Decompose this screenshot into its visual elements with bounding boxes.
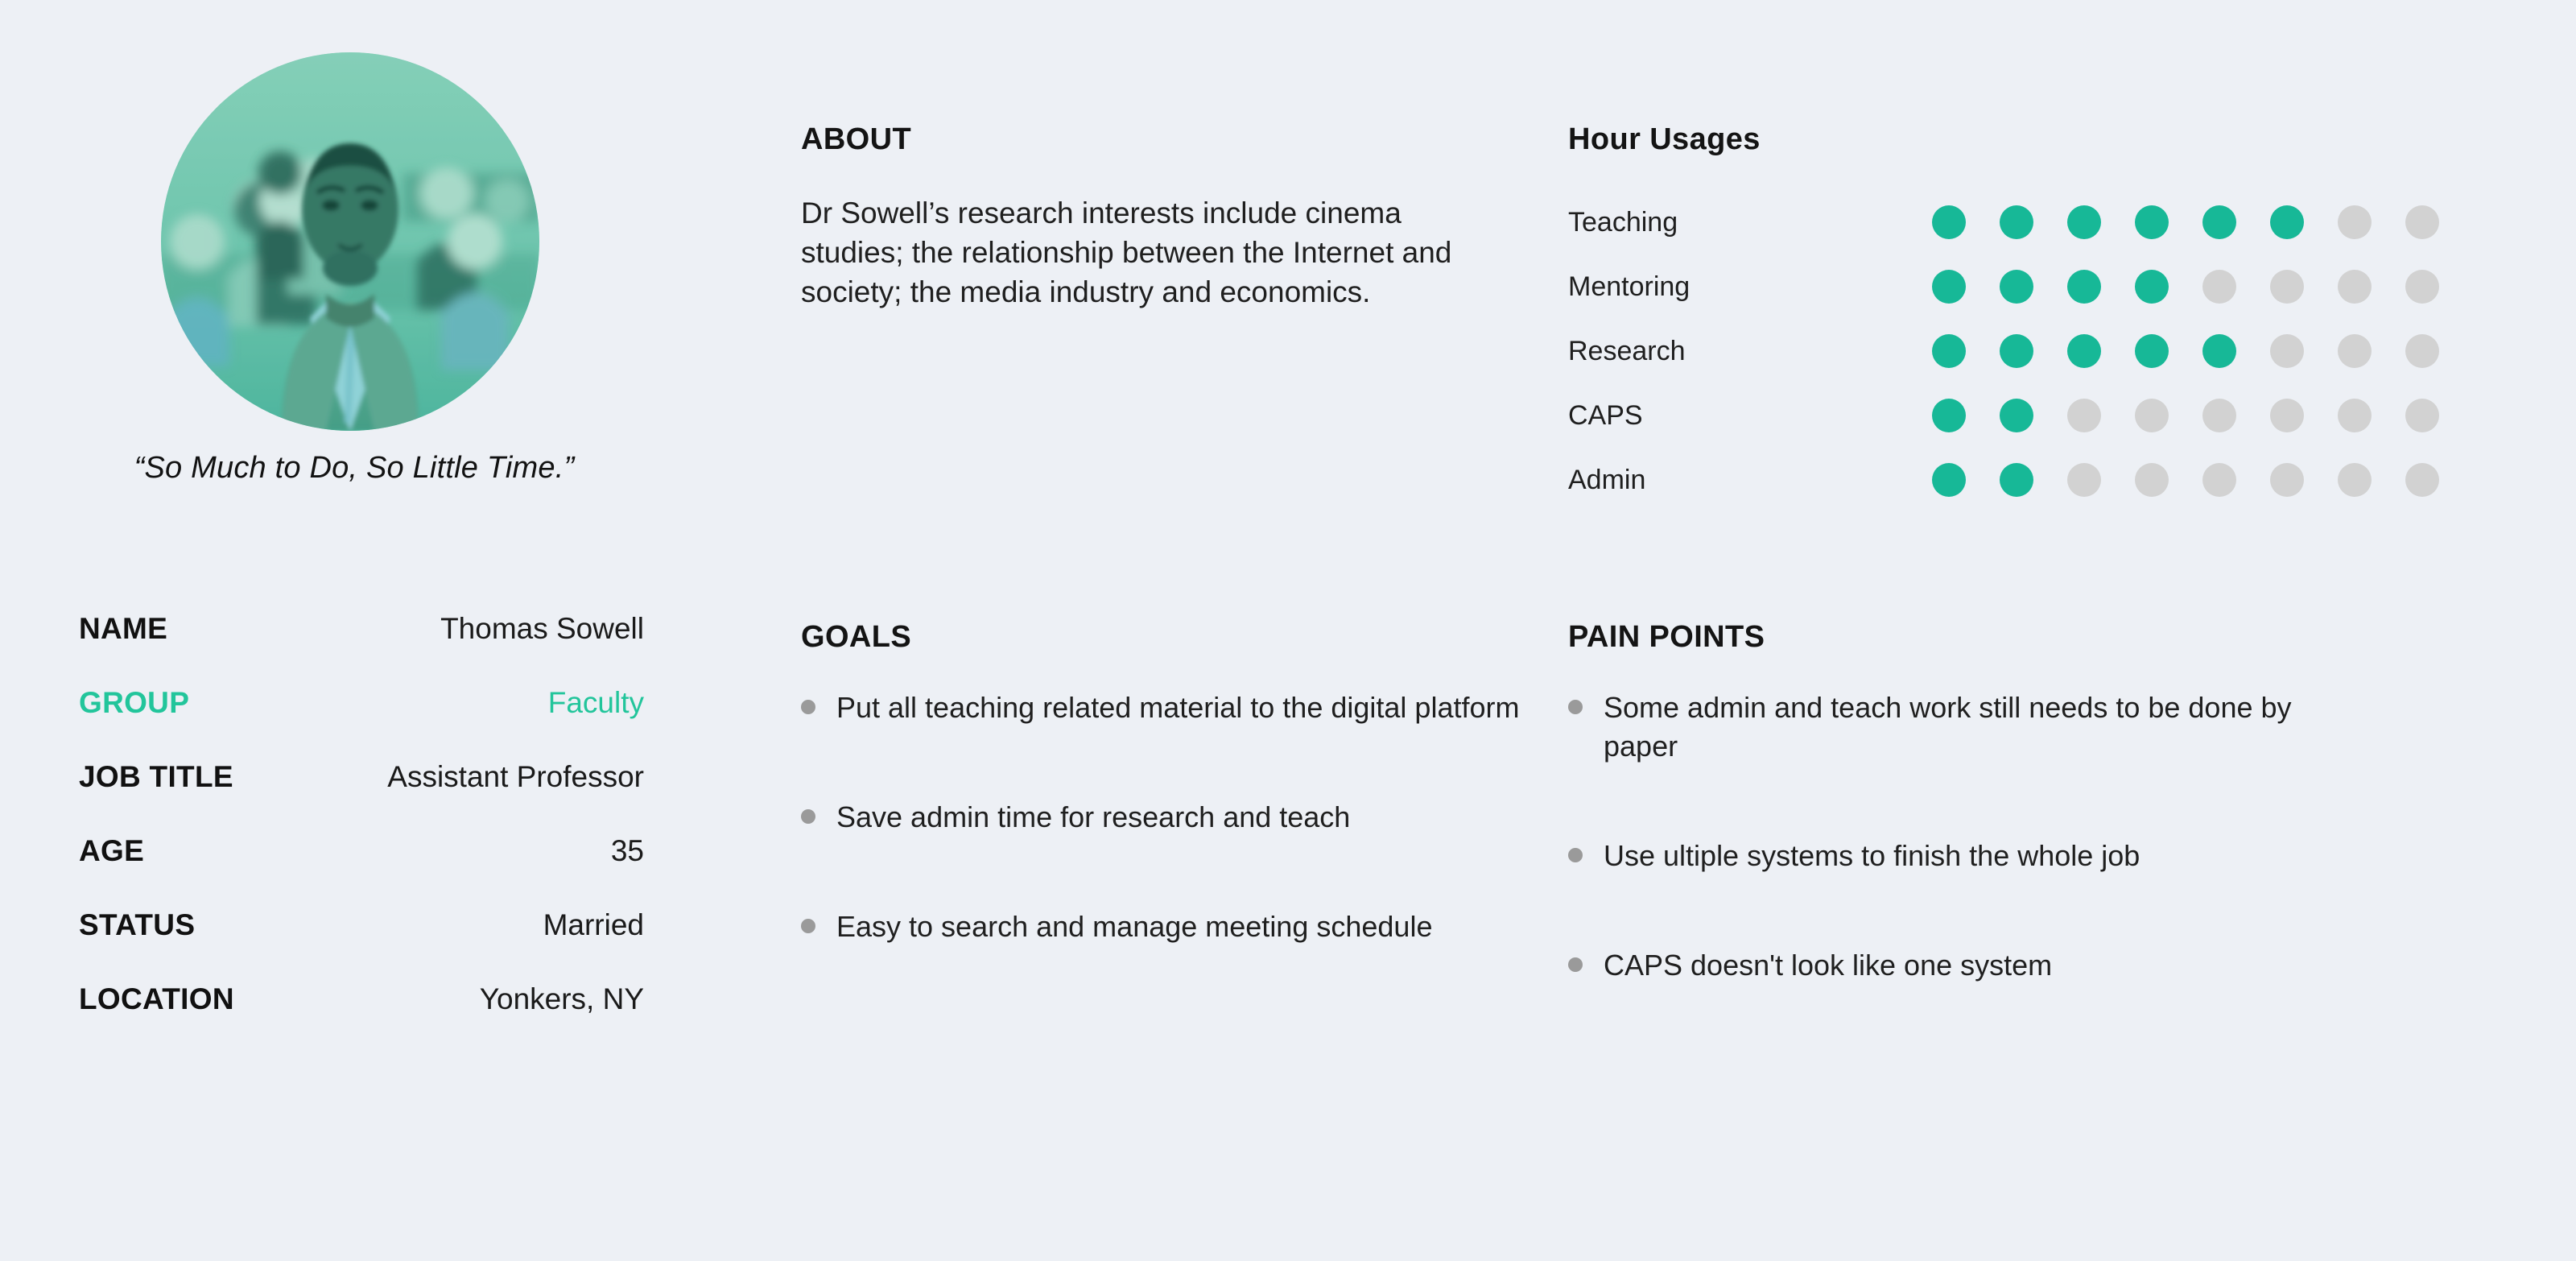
dot-filled-icon: [2000, 334, 2033, 368]
detail-row-location: LOCATION Yonkers, NY: [79, 982, 644, 1056]
list-item: Save admin time for research and teach: [801, 798, 1542, 837]
dot-filled-icon: [2135, 270, 2169, 304]
dot-empty-icon: [2202, 399, 2236, 432]
persona-details: NAME Thomas Sowell GROUP Faculty JOB TIT…: [79, 612, 644, 1056]
detail-label: NAME: [79, 612, 167, 646]
dot-filled-icon: [1932, 334, 1966, 368]
list-item: Use ultiple systems to finish the whole …: [1568, 837, 2373, 875]
detail-row-job-title: JOB TITLE Assistant Professor: [79, 760, 644, 834]
detail-row-name: NAME Thomas Sowell: [79, 612, 644, 686]
list-item-text: Some admin and teach work still needs to…: [1604, 691, 2292, 763]
dot-empty-icon: [2405, 399, 2439, 432]
dot-empty-icon: [2202, 463, 2236, 497]
dot-filled-icon: [1932, 205, 1966, 239]
detail-value: Married: [543, 908, 644, 942]
detail-label: STATUS: [79, 908, 195, 942]
dot-empty-icon: [2405, 463, 2439, 497]
hour-usage-label: Research: [1568, 334, 1686, 368]
dot-empty-icon: [2405, 205, 2439, 239]
dot-empty-icon: [2270, 334, 2304, 368]
dot-empty-icon: [2270, 270, 2304, 304]
dot-filled-icon: [2067, 205, 2101, 239]
bullet-icon: [1568, 957, 1583, 972]
dot-filled-icon: [2067, 270, 2101, 304]
dot-empty-icon: [2338, 205, 2372, 239]
hour-usage-dots: [1932, 334, 2473, 368]
detail-label: LOCATION: [79, 982, 234, 1016]
about-heading: ABOUT: [801, 122, 911, 157]
hour-usages-heading: Hour Usages: [1568, 122, 1761, 157]
hour-usage-label: CAPS: [1568, 399, 1643, 432]
list-item-text: Easy to search and manage meeting schedu…: [836, 910, 1432, 943]
about-body: Dr Sowell’s research interests include c…: [801, 193, 1509, 312]
hour-usage-dots: [1932, 463, 2473, 497]
hour-usage-dots: [1932, 399, 2473, 432]
hour-usage-dots: [1932, 270, 2473, 304]
dot-empty-icon: [2270, 463, 2304, 497]
hour-usage-label: Mentoring: [1568, 270, 1690, 304]
goals-heading: GOALS: [801, 620, 911, 655]
dot-empty-icon: [2338, 270, 2372, 304]
bullet-icon: [801, 809, 815, 824]
persona-canvas: “So Much to Do, So Little Time.” NAME Th…: [0, 0, 2576, 1261]
dot-filled-icon: [2135, 334, 2169, 368]
detail-value: Faculty: [548, 686, 644, 720]
bullet-icon: [1568, 700, 1583, 714]
goals-list: Put all teaching related material to the…: [801, 688, 1542, 946]
detail-label: GROUP: [79, 686, 189, 720]
dot-empty-icon: [2067, 399, 2101, 432]
dot-filled-icon: [1932, 270, 1966, 304]
dot-filled-icon: [1932, 463, 1966, 497]
persona-quote: “So Much to Do, So Little Time.”: [0, 451, 708, 486]
dot-filled-icon: [2000, 463, 2033, 497]
list-item-text: Save admin time for research and teach: [836, 800, 1350, 833]
dot-empty-icon: [2202, 270, 2236, 304]
list-item: Put all teaching related material to the…: [801, 688, 1542, 727]
avatar: [161, 52, 539, 431]
hour-usage-label: Admin: [1568, 463, 1645, 497]
dot-filled-icon: [2000, 270, 2033, 304]
dot-filled-icon: [2135, 205, 2169, 239]
detail-row-status: STATUS Married: [79, 908, 644, 982]
list-item: CAPS doesn't look like one system: [1568, 946, 2373, 985]
hour-usage-label: Teaching: [1568, 205, 1678, 239]
bullet-icon: [801, 919, 815, 933]
dot-empty-icon: [2135, 463, 2169, 497]
dot-empty-icon: [2270, 399, 2304, 432]
dot-filled-icon: [2202, 334, 2236, 368]
list-item: Easy to search and manage meeting schedu…: [801, 908, 1542, 946]
pain-points-list: Some admin and teach work still needs to…: [1568, 688, 2373, 985]
detail-value: Thomas Sowell: [440, 612, 644, 646]
detail-row-age: AGE 35: [79, 834, 644, 908]
detail-value: 35: [611, 834, 644, 868]
pain-points-heading: PAIN POINTS: [1568, 620, 1765, 655]
bullet-icon: [1568, 848, 1583, 862]
detail-value: Assistant Professor: [387, 760, 644, 794]
avatar-photo: [161, 52, 539, 431]
dot-filled-icon: [2000, 205, 2033, 239]
dot-filled-icon: [2000, 399, 2033, 432]
hour-usage-dots: [1932, 205, 2473, 239]
detail-label: AGE: [79, 834, 144, 868]
dot-empty-icon: [2067, 463, 2101, 497]
dot-empty-icon: [2338, 399, 2372, 432]
list-item-text: CAPS doesn't look like one system: [1604, 949, 2052, 982]
dot-filled-icon: [1932, 399, 1966, 432]
list-item-text: Put all teaching related material to the…: [836, 691, 1519, 724]
dot-empty-icon: [2338, 334, 2372, 368]
list-item-text: Use ultiple systems to finish the whole …: [1604, 839, 2140, 872]
bullet-icon: [801, 700, 815, 714]
detail-value: Yonkers, NY: [480, 982, 644, 1016]
dot-filled-icon: [2202, 205, 2236, 239]
detail-row-group: GROUP Faculty: [79, 686, 644, 760]
dot-filled-icon: [2270, 205, 2304, 239]
dot-empty-icon: [2405, 270, 2439, 304]
dot-empty-icon: [2135, 399, 2169, 432]
list-item: Some admin and teach work still needs to…: [1568, 688, 2373, 766]
detail-label: JOB TITLE: [79, 760, 233, 794]
dot-empty-icon: [2338, 463, 2372, 497]
dot-empty-icon: [2405, 334, 2439, 368]
dot-filled-icon: [2067, 334, 2101, 368]
